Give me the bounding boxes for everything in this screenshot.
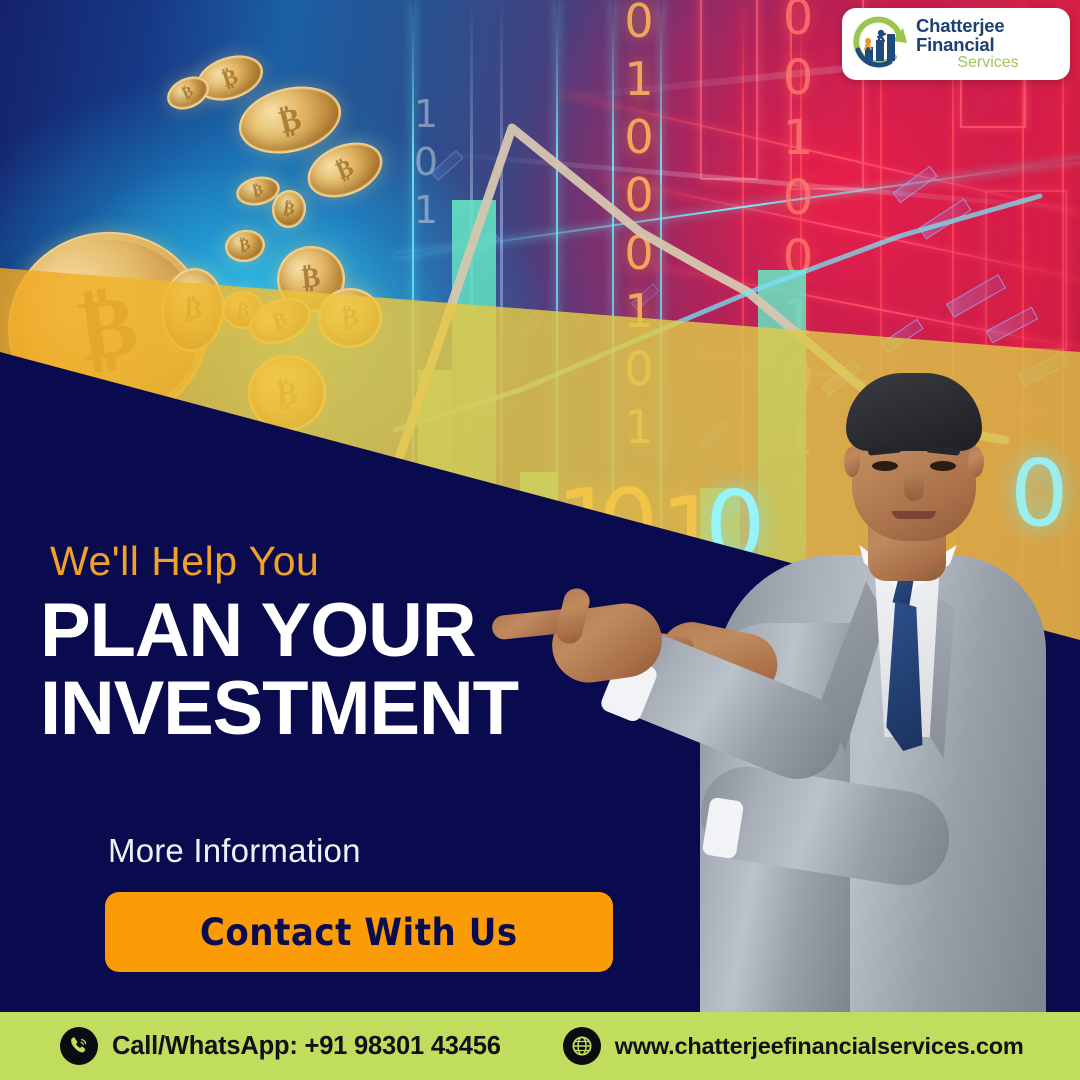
website-contact[interactable]: www.chatterjeefinancialservices.com [563,1027,1024,1065]
phone-number-text: Call/WhatsApp: +91 98301 43456 [112,1032,501,1061]
headline-line-2: INVESTMENT [40,670,680,748]
website-url-text: www.chatterjeefinancialservices.com [615,1033,1024,1060]
mouth [892,511,936,519]
promo-poster: 01000101 00100101 101 01 ₿ ₿ ₿ ₿ [0,0,1080,1080]
logo-subtitle: Services [916,55,1060,72]
eye-right [930,461,956,471]
more-information-label: More Information [108,832,361,870]
page-title: PLAN YOUR INVESTMENT [40,592,680,747]
logo-wordmark: Chatterjee Financial Services [916,16,1060,72]
ear-left [844,447,860,477]
globe-icon [563,1027,601,1065]
cta-button-label: Contact With Us [200,911,518,954]
brand-logo[interactable]: Chatterjee Financial Services [842,8,1070,80]
logo-company-name: Chatterjee Financial [916,16,1060,54]
phone-contact[interactable]: Call/WhatsApp: +91 98301 43456 [60,1027,501,1065]
kicker-text: We'll Help You [50,538,319,585]
contact-footer-bar: Call/WhatsApp: +91 98301 43456 www.chatt… [0,1012,1080,1080]
phone-glyph [67,1034,91,1058]
ear-right [968,447,984,477]
logo-mark-icon [850,16,908,72]
eye-left [872,461,898,471]
contact-with-us-button[interactable]: Contact With Us [105,892,613,972]
globe-glyph [570,1034,594,1058]
headline-line-1: PLAN YOUR [40,592,680,670]
nose [904,473,924,501]
phone-whatsapp-icon [60,1027,98,1065]
growth-arrow-icon [850,16,908,72]
hair [846,373,982,451]
